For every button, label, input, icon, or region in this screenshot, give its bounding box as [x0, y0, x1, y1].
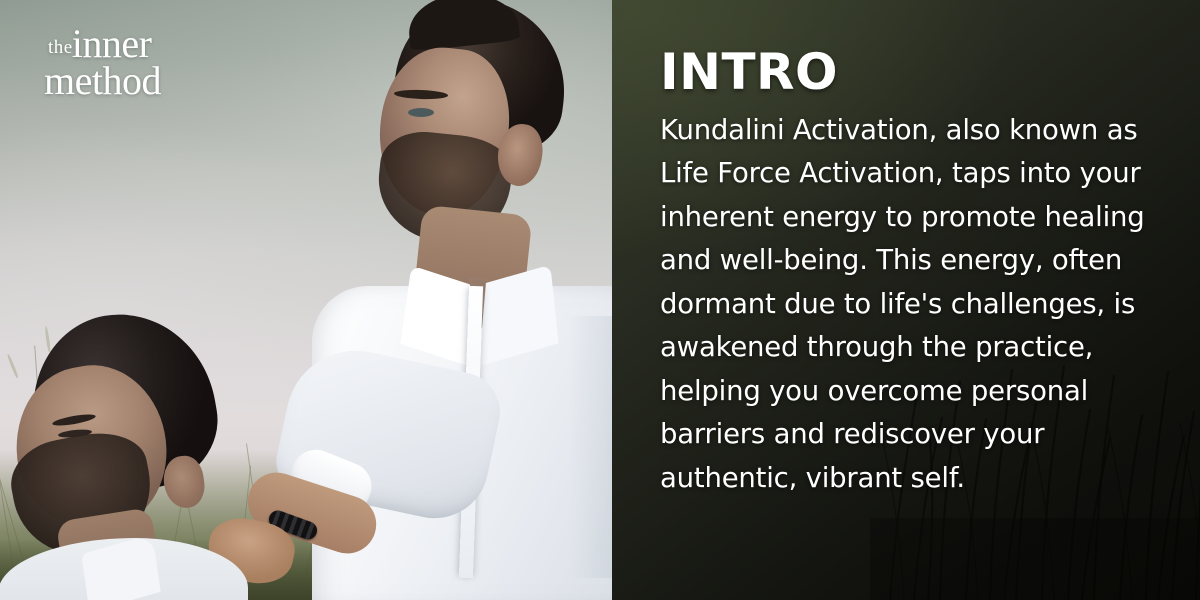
standing-practitioner	[268, 0, 612, 600]
brand-logo-method: method	[44, 63, 161, 98]
brand-logo-line-1: theinner	[48, 26, 161, 61]
page-title: INTRO	[660, 46, 1164, 99]
panel-content: INTRO Kundalini Activation, also known a…	[660, 46, 1164, 500]
intro-body-text: Kundalini Activation, also known as Life…	[660, 109, 1160, 501]
intro-banner: theinner method	[0, 0, 1200, 600]
hero-photo: theinner method	[0, 0, 612, 600]
seated-participant	[0, 308, 288, 600]
brand-logo-inner: inner	[72, 26, 152, 61]
brand-logo: theinner method	[48, 26, 161, 98]
brand-logo-the: the	[48, 40, 73, 57]
standing-man-eye	[408, 108, 434, 117]
standing-man-sleeve-fold	[568, 316, 612, 578]
intro-text-panel: INTRO Kundalini Activation, also known a…	[612, 0, 1200, 600]
